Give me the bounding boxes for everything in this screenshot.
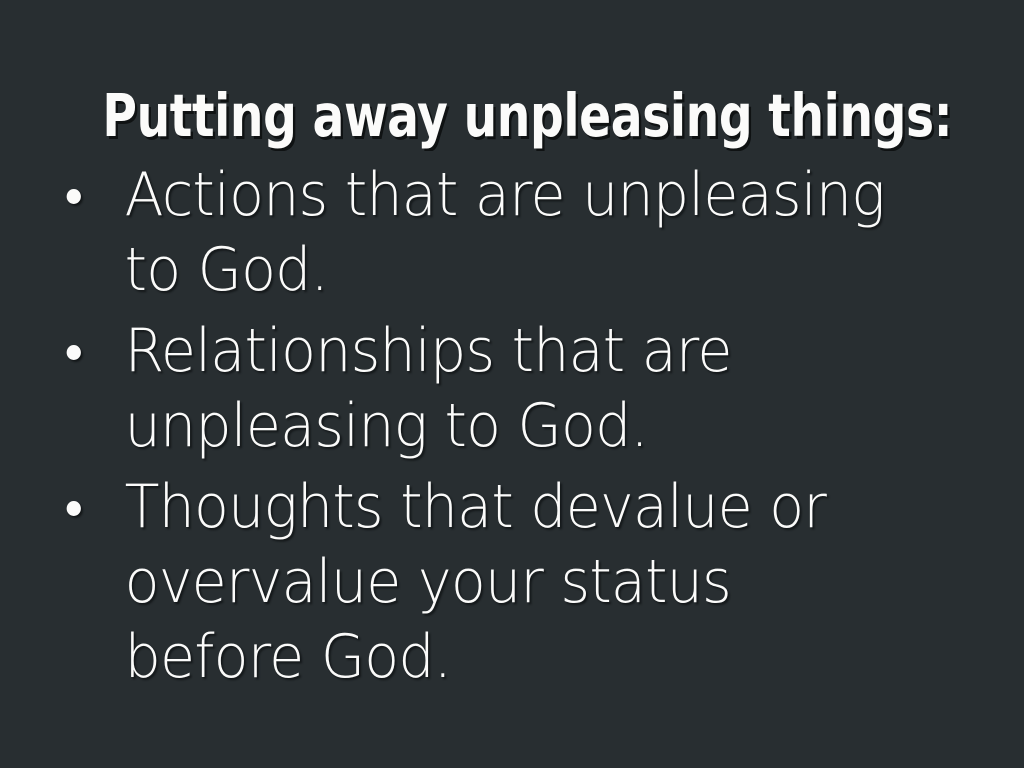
list-item: Relationships that are unpleasing to God… [60,314,915,464]
presentation-slide: Putting away unpleasing things: Actions … [0,0,1024,768]
bullet-dot-icon [67,345,81,360]
list-item-text: Relationships that are unpleasing to God… [125,314,915,464]
list-item-text: Actions that are unpleasing to God. [125,158,915,308]
bullet-dot-icon [67,189,81,204]
list-item-text: Thoughts that devalue or overvalue your … [125,470,915,695]
list-item: Actions that are unpleasing to God. [60,158,915,308]
list-item: Thoughts that devalue or overvalue your … [60,470,915,695]
bullet-dot-icon [67,501,81,516]
slide-title: Putting away unpleasing things: [102,84,921,148]
bullet-list: Actions that are unpleasing to God. Rela… [60,158,960,701]
